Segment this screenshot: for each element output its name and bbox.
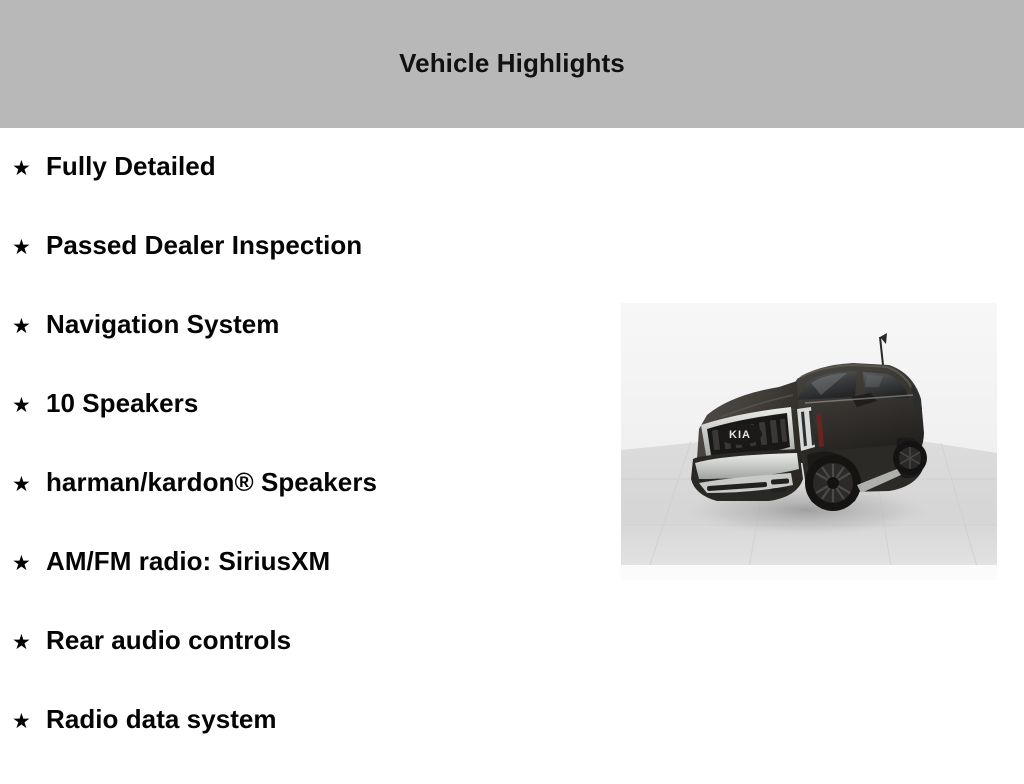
svg-text:KIA: KIA: [729, 429, 751, 441]
highlight-label: harman/kardon® Speakers: [46, 468, 377, 497]
page-title: Vehicle Highlights: [399, 49, 625, 80]
list-item: ★ Passed Dealer Inspection: [0, 231, 600, 310]
list-item: ★ Rear audio controls: [0, 626, 600, 705]
header-band: Vehicle Highlights: [0, 0, 1024, 128]
star-bullet-icon: ★: [12, 237, 46, 258]
star-bullet-icon: ★: [12, 711, 46, 732]
kia-badge-icon: KIA: [718, 423, 762, 445]
highlight-label: Passed Dealer Inspection: [46, 231, 362, 260]
vehicle-photo: KIA: [621, 303, 997, 580]
star-bullet-icon: ★: [12, 474, 46, 495]
vehicle-photo-image: KIA: [621, 303, 997, 580]
highlight-label: Fully Detailed: [46, 152, 216, 181]
star-bullet-icon: ★: [12, 632, 46, 653]
list-item: ★ Fully Detailed: [0, 128, 600, 231]
star-bullet-icon: ★: [12, 553, 46, 574]
star-bullet-icon: ★: [12, 316, 46, 337]
highlight-label: 10 Speakers: [46, 389, 198, 418]
highlight-label: Navigation System: [46, 310, 279, 339]
list-item: ★ harman/kardon® Speakers: [0, 468, 600, 547]
vehicle-highlights-list: ★ Fully Detailed ★ Passed Dealer Inspect…: [0, 128, 600, 784]
list-item: ★ AM/FM radio: SiriusXM: [0, 547, 600, 626]
list-item: ★ Navigation System: [0, 310, 600, 389]
star-bullet-icon: ★: [12, 395, 46, 416]
list-item: ★ 10 Speakers: [0, 389, 600, 468]
highlight-label: AM/FM radio: SiriusXM: [46, 547, 330, 576]
highlight-label: Rear audio controls: [46, 626, 291, 655]
highlight-label: Radio data system: [46, 705, 277, 734]
star-bullet-icon: ★: [12, 158, 46, 179]
list-item: ★ Radio data system: [0, 705, 600, 784]
